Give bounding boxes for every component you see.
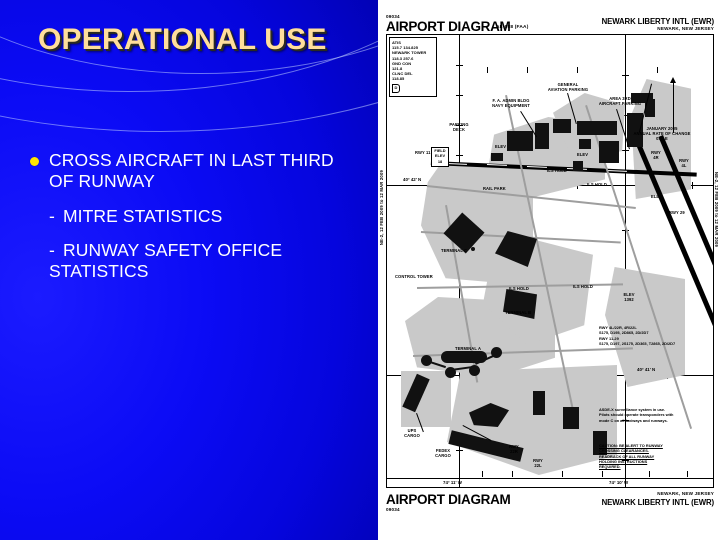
label-rwy-22r: RWY 22R [505, 445, 523, 455]
label-fedex-cargo: FEDEX CARGO [427, 449, 459, 459]
runway-data-line-4: S175, D197, 2S175, 2D365, T2865, 2D/2D7 [599, 341, 703, 346]
bullet-item-2-label: MITRE STATISTICS [63, 206, 222, 226]
presentation-slide: OPERATIONAL USE CROSS AIRCRAFT IN LAST T… [0, 0, 720, 540]
bullet-item-2: -MITRE STATISTICS [30, 206, 360, 227]
label-general-aviation-parking: GENERAL AVIATION PARKING [539, 83, 597, 93]
bullet-item-1: CROSS AIRCRAFT IN LAST THIRD OF RUNWAY [30, 150, 360, 193]
label-rail-park: RAIL PARK [483, 187, 506, 192]
label-terminal-a: TERMINAL A [455, 347, 481, 352]
bullet-dot-icon [30, 157, 39, 166]
elevation-marker: ELEV [577, 153, 588, 158]
graticule-tick [622, 75, 629, 76]
graticule-tick [456, 155, 463, 156]
label-area-3rd-aircraft-parking: AREA 3RD AIRCRAFT PARKING [593, 97, 647, 107]
runway-data-block: RWY 4L/22R, 4R/22L S175, D195, 2D865, 2D… [599, 325, 703, 346]
bullet-item-1-label: CROSS AIRCRAFT IN LAST THIRD OF RUNWAY [49, 150, 360, 193]
chart-code-bottom: 09034 [386, 507, 400, 512]
building [573, 161, 583, 171]
field-elev-value: 18 [432, 159, 448, 164]
graticule-tick [456, 65, 463, 66]
label-rwy-4l: RWY 4L [675, 159, 693, 169]
building [579, 139, 591, 149]
scale-tick [649, 471, 650, 477]
label-parking-deck: PARKING DECK [445, 123, 473, 133]
airport-diagram: 09034 AIRPORT DIAGRAM AL-088 (FAA) NEWAR… [378, 0, 720, 540]
scale-tick [482, 471, 483, 477]
scale-baseline [387, 478, 713, 479]
scale-tick [562, 471, 563, 477]
clearance-delivery-frequency: 118.85 [392, 76, 434, 81]
scale-tick [657, 67, 658, 73]
label-faa-admin-bldg: F. A. ADMIN BLDG NAVY EQUIPMENT [483, 99, 539, 109]
scale-tick [527, 67, 528, 73]
bullet-item-3-dash: - [49, 240, 63, 261]
label-rwy-29: RWY 29 [669, 211, 685, 216]
variation-rate-value: 0.0° E [619, 137, 705, 142]
airport-city-bottom: NEWARK, NEW JERSEY [657, 491, 714, 496]
label-rwy-11: RWY 11 [415, 151, 430, 156]
bullet-item-2-dash: - [49, 206, 63, 227]
label-control-tower: CONTROL TOWER [395, 275, 433, 280]
airport-name-top: NEWARK LIBERTY INTL (EWR) [602, 17, 714, 26]
bullet-item-3-label: RUNWAY SAFETY OFFICE STATISTICS [49, 240, 282, 281]
slide-title: OPERATIONAL USE [38, 24, 368, 56]
airport-map-body: ATIS 115.7 134.825 NEWARK TOWER 118.3 25… [386, 34, 714, 488]
label-rwy-22l: RWY 22L [529, 459, 547, 469]
asde-x-note: ASDE-X surveillance system in use. Pilot… [599, 407, 707, 423]
building [563, 407, 579, 429]
ils-hold-marker: ILS HOLD [547, 169, 567, 174]
communications-info-box: ATIS 115.7 134.825 NEWARK TOWER 118.3 25… [389, 37, 437, 97]
scale-tick [602, 471, 603, 477]
scale-tick [512, 471, 513, 477]
elevation-marker: ELEV [651, 195, 662, 200]
ils-hold-marker: ILS HOLD [573, 285, 593, 290]
building [577, 121, 617, 135]
chart-effectivity-left: NE-2, 12 FEB 2009 to 12 MAR 2009 [379, 170, 384, 245]
diagram-title-top: AIRPORT DIAGRAM [386, 19, 511, 34]
longitude-label-1: 74° 11' W [443, 480, 462, 485]
scale-tick [487, 67, 488, 73]
d-atis-icon: D [392, 84, 400, 93]
bullet-item-3: -RUNWAY SAFETY OFFICE STATISTICS [30, 240, 360, 283]
caution-note: CAUTION: BE ALERT TO RUNWAY CROSSING CLE… [599, 443, 707, 469]
field-elevation-box: FIELD ELEV 18 [431, 147, 449, 167]
slide-body: CROSS AIRCRAFT IN LAST THIRD OF RUNWAY -… [30, 150, 360, 283]
diagram-title-bottom: AIRPORT DIAGRAM [386, 492, 511, 507]
scale-tick [577, 67, 578, 73]
label-terminal-b: TERMINAL B [505, 311, 531, 316]
latitude-label-1: 40° 42' N [403, 177, 421, 182]
al-number-label: AL-088 (FAA) [496, 25, 529, 30]
airport-city-top: NEWARK, NEW JERSEY [657, 26, 714, 31]
control-tower-marker [471, 247, 475, 251]
graticule-tick [456, 95, 463, 96]
graticule-tick [622, 150, 629, 151]
label-rwy-4r: RWY 4R [647, 151, 665, 161]
ils-hold-marker: ILS HOLD [587, 183, 607, 188]
graticule-tick [692, 182, 693, 189]
magnetic-variation-block: JANUARY 2005 ANNUAL RATE OF CHANGE 0.0° … [619, 127, 705, 141]
airport-name-bottom: NEWARK LIBERTY INTL (EWR) [602, 498, 714, 507]
north-arrow-head [670, 77, 676, 83]
building [599, 141, 619, 163]
slide-background-panel: OPERATIONAL USE CROSS AIRCRAFT IN LAST T… [0, 0, 378, 540]
north-arrow-shaft [673, 79, 674, 133]
building [533, 391, 545, 415]
elevation-marker: ELEV [495, 145, 506, 150]
building [491, 153, 503, 161]
latitude-label-2: 40° 41' N [637, 367, 655, 372]
label-terminal-c: TERMINAL C [441, 249, 467, 254]
longitude-label-2: 74° 10' W [609, 480, 628, 485]
chart-effectivity-right: NE-2, 12 FEB 2009 to 12 MAR 2009 [714, 172, 719, 247]
building [507, 131, 533, 151]
label-elev-1392: ELEV 1392 [617, 293, 641, 303]
ils-hold-marker: ILS HOLD [509, 287, 529, 292]
scale-tick [687, 471, 688, 477]
building [553, 119, 571, 133]
